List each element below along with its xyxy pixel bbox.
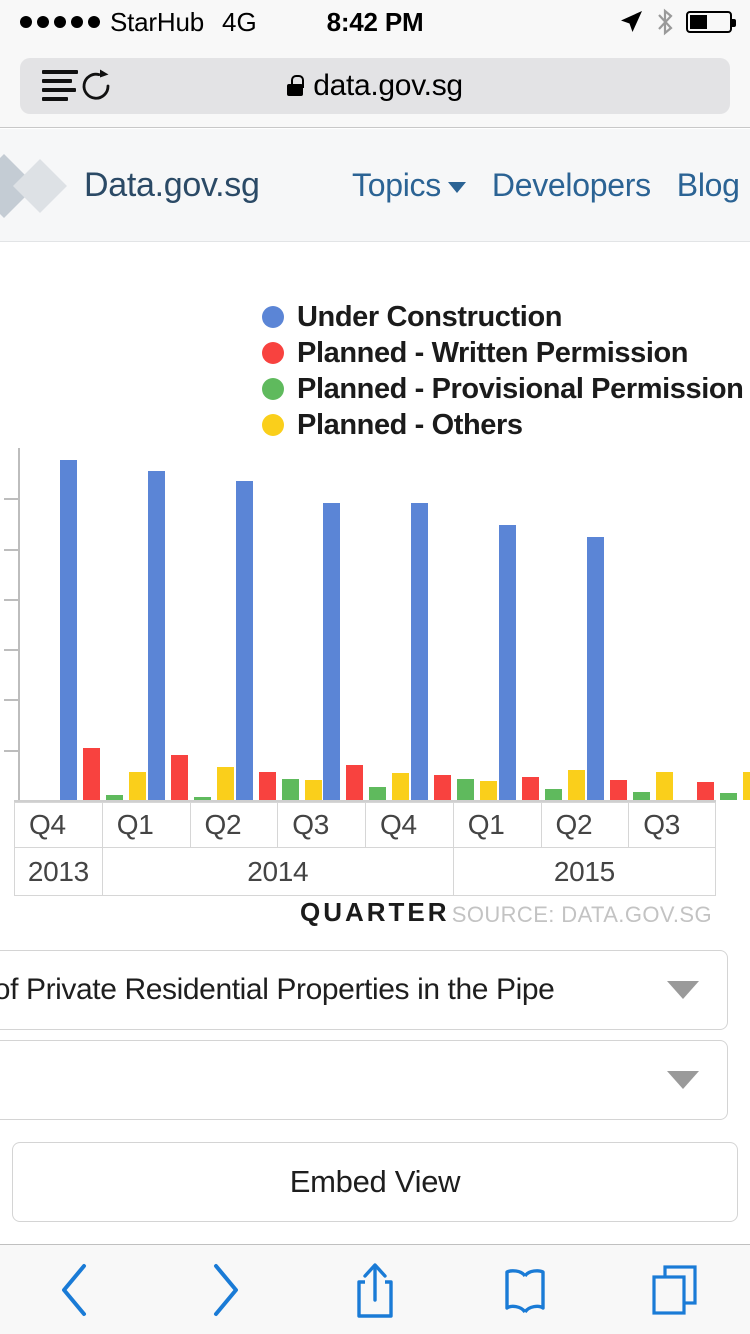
chart-bar[interactable] [129, 772, 146, 800]
quarter-cell: Q4 [365, 802, 453, 848]
forward-button[interactable] [150, 1245, 300, 1334]
chart-plot-area [0, 440, 750, 802]
chart-bar[interactable] [434, 775, 451, 800]
nav-item-developers[interactable]: Developers [492, 167, 651, 204]
status-bar: StarHub 4G 8:42 PM [0, 0, 750, 44]
chart-controls: ly of Private Residential Properties in … [0, 950, 750, 1222]
bookmarks-button[interactable] [450, 1245, 600, 1334]
nav-item-topics[interactable]: Topics [352, 167, 466, 204]
lock-icon [287, 75, 303, 96]
legend-color-swatch [262, 378, 284, 400]
share-icon [353, 1260, 397, 1320]
quarter-cell: Q3 [628, 802, 716, 848]
chart-bar[interactable] [171, 755, 188, 800]
chart-bar[interactable] [656, 772, 673, 800]
bookmarks-icon [497, 1262, 553, 1318]
chart-bar[interactable] [217, 767, 234, 800]
reader-view-icon[interactable] [42, 70, 78, 101]
chart-bar[interactable] [697, 782, 714, 800]
browser-toolbar [0, 1244, 750, 1334]
chart-bar[interactable] [411, 503, 428, 800]
site-nav: Topics Developers Blog [352, 167, 740, 204]
back-icon [58, 1262, 92, 1318]
dataset-select[interactable]: ly of Private Residential Properties in … [0, 950, 728, 1030]
url-text: data.gov.sg [313, 69, 463, 103]
chevron-down-icon [667, 981, 699, 999]
chevron-down-icon [448, 182, 466, 193]
browser-address-bar: data.gov.sg [0, 44, 750, 128]
nav-item-topics-label: Topics [352, 167, 441, 203]
dataset-select-value: ly of Private Residential Properties in … [0, 973, 667, 1007]
location-arrow-icon [618, 9, 644, 35]
chart-legend: Under ConstructionPlanned - Written Perm… [262, 300, 744, 442]
view-select[interactable]: t [0, 1040, 728, 1120]
legend-color-swatch [262, 414, 284, 436]
site-header: Data.gov.sg Topics Developers Blog [0, 129, 750, 242]
legend-item[interactable]: Planned - Written Permission [262, 336, 744, 370]
brand-label[interactable]: Data.gov.sg [84, 166, 260, 205]
nav-item-blog[interactable]: Blog [677, 167, 740, 204]
year-cell: 2013 [14, 848, 102, 896]
year-cell: 2014 [102, 848, 453, 896]
chart-bar[interactable] [369, 787, 386, 800]
chart-bar[interactable] [346, 765, 363, 800]
view-select-value: t [0, 1063, 667, 1097]
url-field[interactable]: data.gov.sg [20, 58, 730, 114]
quarter-cell: Q1 [102, 802, 190, 848]
quarter-cell: Q3 [277, 802, 365, 848]
chart-bar[interactable] [743, 772, 750, 800]
back-button[interactable] [0, 1245, 150, 1334]
year-row: 201320142015 [14, 848, 716, 896]
chart-bar[interactable] [259, 772, 276, 800]
quarter-cell: Q4 [14, 802, 102, 848]
legend-item[interactable]: Planned - Provisional Permission [262, 372, 744, 406]
chart-bars [0, 440, 750, 800]
quarter-cell: Q1 [453, 802, 541, 848]
chart-bar[interactable] [610, 780, 627, 800]
chart-bar[interactable] [236, 481, 253, 800]
chart-bar[interactable] [457, 779, 474, 800]
chart-bar[interactable] [83, 748, 100, 800]
legend-item[interactable]: Under Construction [262, 300, 744, 334]
chart-bar[interactable] [499, 525, 516, 800]
url-display: data.gov.sg [20, 69, 730, 103]
chart-bar[interactable] [545, 789, 562, 800]
reload-icon[interactable] [78, 68, 114, 104]
x-axis-title: QUARTER [300, 897, 450, 928]
safari-browser-screen: StarHub 4G 8:42 PM data.gov.sg [0, 0, 750, 1334]
chart-bar[interactable] [522, 777, 539, 800]
x-axis-table: Q4Q1Q2Q3Q4Q1Q2Q3 201320142015 [14, 802, 716, 896]
tabs-button[interactable] [600, 1245, 750, 1334]
chart-bar[interactable] [633, 792, 650, 800]
bluetooth-icon [655, 8, 675, 36]
chart-bar[interactable] [148, 471, 165, 800]
legend-item-label: Planned - Provisional Permission [297, 373, 744, 406]
chevron-down-icon [667, 1071, 699, 1089]
year-cell: 2015 [453, 848, 716, 896]
quarter-row: Q4Q1Q2Q3Q4Q1Q2Q3 [14, 802, 716, 848]
share-button[interactable] [300, 1245, 450, 1334]
legend-item-label: Planned - Written Permission [297, 337, 688, 370]
chart-bar[interactable] [282, 779, 299, 800]
legend-item[interactable]: Planned - Others [262, 408, 744, 442]
quarter-cell: Q2 [190, 802, 278, 848]
chart-bar[interactable] [568, 770, 585, 800]
forward-icon [208, 1262, 242, 1318]
tabs-icon [649, 1262, 701, 1318]
chart-bar[interactable] [305, 780, 322, 800]
chart-bar[interactable] [480, 781, 497, 800]
battery-icon [686, 11, 732, 33]
chart-bar[interactable] [323, 503, 340, 800]
legend-color-swatch [262, 342, 284, 364]
status-bar-right [618, 0, 732, 44]
chart-container: Under ConstructionPlanned - Written Perm… [0, 242, 750, 942]
chart-bar[interactable] [587, 537, 604, 800]
legend-item-label: Planned - Others [297, 409, 523, 442]
legend-color-swatch [262, 306, 284, 328]
chart-source-label: SOURCE: DATA.GOV.SG [452, 902, 712, 928]
chart-bar[interactable] [720, 793, 737, 800]
chart-bar[interactable] [60, 460, 77, 800]
embed-view-button[interactable]: Embed View [12, 1142, 738, 1222]
chart-bar[interactable] [392, 773, 409, 800]
legend-item-label: Under Construction [297, 301, 562, 334]
quarter-cell: Q2 [541, 802, 629, 848]
